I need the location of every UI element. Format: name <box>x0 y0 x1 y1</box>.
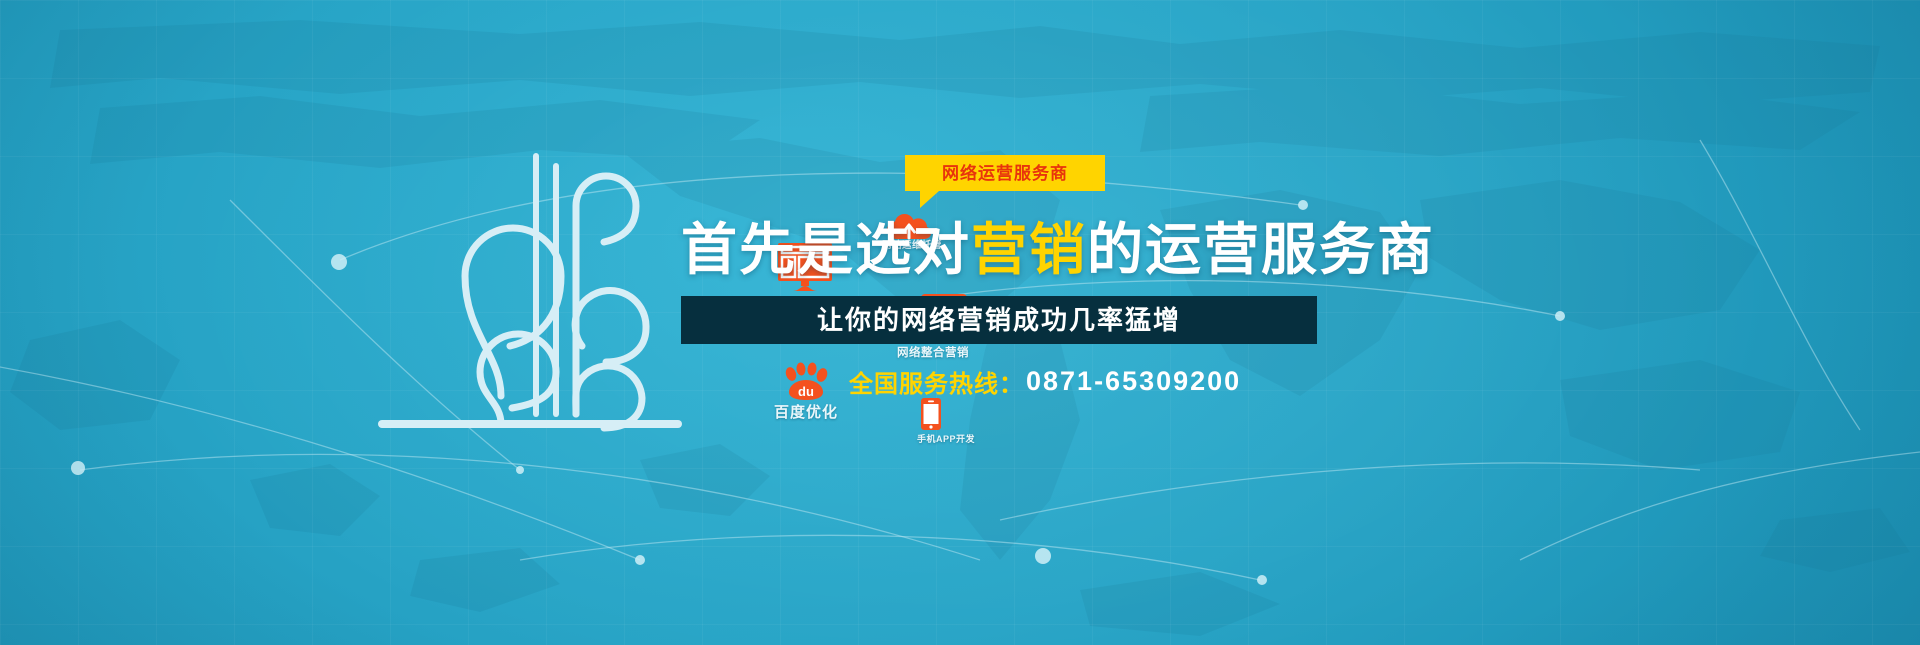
marketing-banner: du <box>0 0 1920 645</box>
hotline: 全国服务热线： 0871-65309200 <box>849 365 1241 397</box>
headline-highlight: 营销 <box>971 222 1087 278</box>
headline-part2: 的运营服务商 <box>1087 222 1435 278</box>
subtitle-text: 让你的网络营销成功几率猛增 <box>817 307 1181 333</box>
subtitle-bar: 让你的网络营销成功几率猛增 <box>681 296 1317 344</box>
tree-label-app-development: 手机APP开发 <box>917 432 975 445</box>
service-tree-graphic: du <box>360 96 700 436</box>
tagline-badge: 网络运营服务商 <box>905 155 1105 191</box>
tagline-badge-tail <box>920 191 939 208</box>
headline-part1: 首先是选对 <box>681 222 971 278</box>
mobile-phone-icon <box>921 398 941 430</box>
baidu-du-text: du <box>798 384 814 399</box>
tagline-badge-text: 网络运营服务商 <box>942 165 1068 182</box>
tree-label-baidu-seo: 百度优化 <box>774 401 838 422</box>
hotline-number[interactable]: 0871-65309200 <box>1026 366 1241 397</box>
baidu-paw-icon: du <box>784 364 828 400</box>
hotline-label: 全国服务热线： <box>849 364 1024 399</box>
tree-label-integrated-mkt: 网络整合营销 <box>897 344 969 360</box>
tree-branch-lines <box>360 96 700 456</box>
headline: 首先是选对营销的运营服务商 <box>681 214 1471 286</box>
